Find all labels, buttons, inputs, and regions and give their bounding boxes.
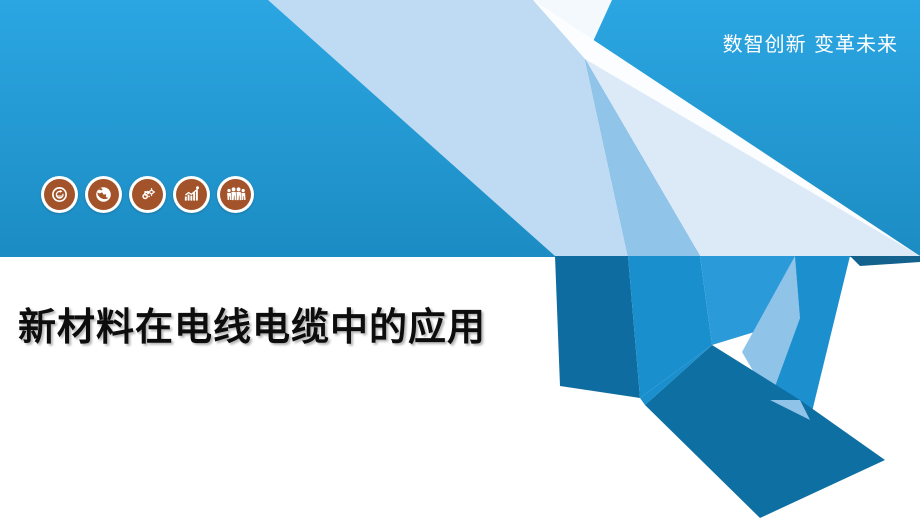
polygon-lower-dark-left <box>555 256 640 398</box>
background-artwork <box>0 0 920 518</box>
globe-world-icon <box>88 179 119 210</box>
slide-tagline: 数智创新 变革未来 <box>723 28 898 57</box>
bar-chart-growth-icon <box>176 179 207 210</box>
slide-title: 新材料在电线电缆中的应用 <box>18 296 486 351</box>
icon-badge-innovation[interactable] <box>41 176 78 213</box>
icon-badge-gears[interactable] <box>129 176 166 213</box>
icon-badge-chart[interactable] <box>173 176 210 213</box>
icon-badge-people[interactable] <box>217 176 254 213</box>
icon-badge-row <box>41 176 254 213</box>
gears-cogs-icon <box>132 179 163 210</box>
lightbulb-innovation-icon <box>44 179 75 210</box>
icon-badge-globe[interactable] <box>85 176 122 213</box>
polygon-right-dark-sliver <box>850 256 920 266</box>
people-group-icon <box>220 179 251 210</box>
presentation-slide: 数智创新 变革未来 <box>0 0 920 518</box>
